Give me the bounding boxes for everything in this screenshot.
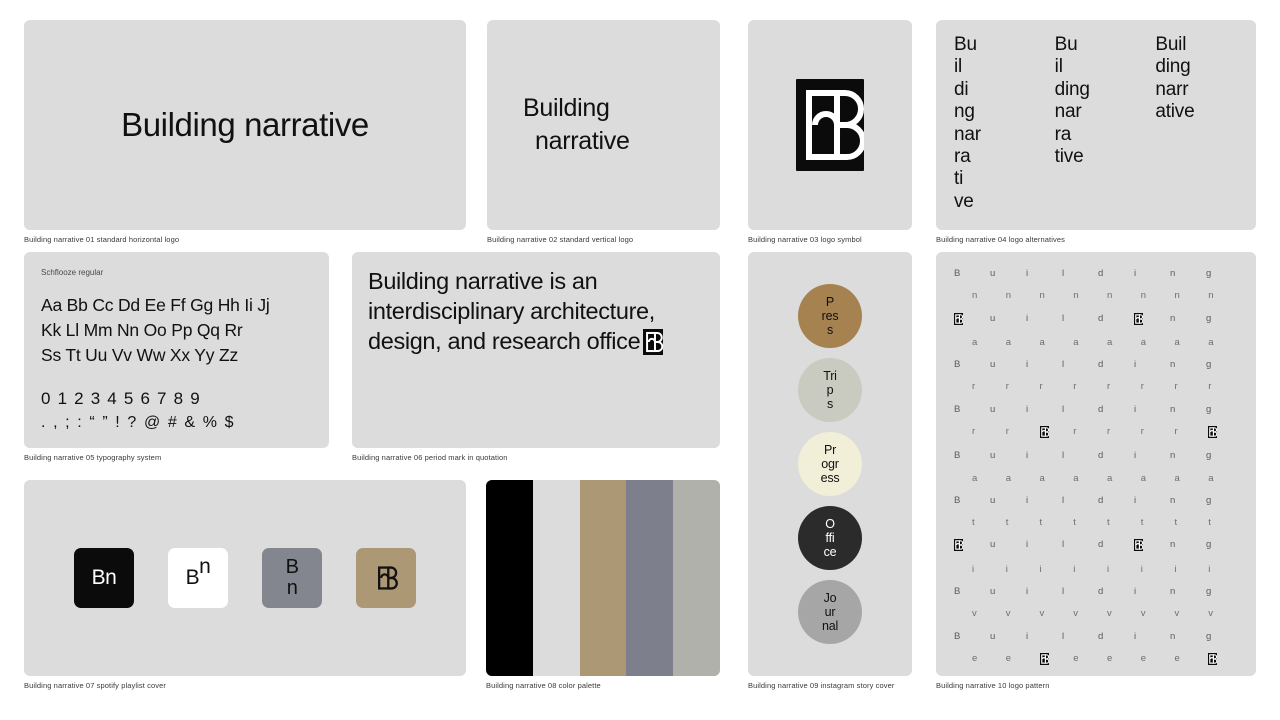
story-label: Journal xyxy=(822,591,838,633)
pattern-letter: a xyxy=(1208,337,1242,348)
card-standard-horizontal-logo: Building narrative Building narrative 01… xyxy=(24,20,466,244)
pattern-letter: d xyxy=(1098,586,1134,597)
pattern-letter: v xyxy=(1175,608,1209,619)
pattern-letter: d xyxy=(1098,539,1134,552)
story-line: p xyxy=(827,383,834,397)
pattern-letter: e xyxy=(1141,653,1175,666)
card-panel xyxy=(486,480,720,676)
pattern-letter: i xyxy=(1208,564,1242,575)
pattern-letter: i xyxy=(1026,313,1062,326)
pattern-monogram-icon xyxy=(1040,653,1074,666)
story-line: Tri xyxy=(823,369,837,383)
pattern-letter: t xyxy=(1073,517,1107,528)
story-line: P xyxy=(826,295,834,309)
pattern-letter: i xyxy=(1026,404,1062,415)
pattern-letter: a xyxy=(1175,337,1209,348)
card-color-palette: Building narrative 08 color palette xyxy=(486,480,720,690)
pattern-monogram-icon xyxy=(1040,426,1074,439)
pattern-letter: v xyxy=(1006,608,1040,619)
pattern-letter: t xyxy=(1141,517,1175,528)
card-panel: BnBnBn xyxy=(24,480,466,676)
bn-monogram-icon xyxy=(1134,539,1143,551)
cover-label: Bn xyxy=(92,566,117,590)
pattern-row: eeeeee xyxy=(954,653,1242,666)
pattern-letter: a xyxy=(1107,337,1141,348)
pattern-monogram-icon xyxy=(1134,313,1170,326)
pattern-letter: g xyxy=(1206,495,1242,506)
card-caption: Building narrative 03 logo symbol xyxy=(748,235,912,244)
bn-monogram-icon xyxy=(374,563,398,593)
pattern-letter: g xyxy=(1206,586,1242,597)
card-panel: PressTripsProgressOfficeJournal xyxy=(748,252,912,676)
story-line: s xyxy=(827,397,833,411)
pattern-letter: l xyxy=(1062,313,1098,326)
pattern-letter: r xyxy=(972,381,1006,392)
pattern-letter: d xyxy=(1098,450,1134,461)
pattern-letter: n xyxy=(1170,404,1206,415)
pattern-letter: r xyxy=(972,426,1006,439)
pattern-letter: g xyxy=(1206,268,1242,279)
pattern-row: Building xyxy=(954,404,1242,415)
story-line: O xyxy=(825,517,835,531)
pattern-row: rrrrrrrr xyxy=(954,381,1242,392)
pattern-letter: t xyxy=(1175,517,1209,528)
card-panel xyxy=(748,20,912,230)
logo-pattern-grid: BuildingnnnnnnnnuildngaaaaaaaaBuildingrr… xyxy=(936,252,1256,676)
pattern-letter: e xyxy=(1107,653,1141,666)
pattern-letter: B xyxy=(954,404,990,415)
pattern-letter: d xyxy=(1098,495,1134,506)
pattern-letter: i xyxy=(1134,268,1170,279)
logo-alternative-line: il xyxy=(954,56,1055,78)
pattern-letter: i xyxy=(1141,564,1175,575)
pattern-letter: r xyxy=(1175,426,1209,439)
pattern-letter: i xyxy=(1026,450,1062,461)
pattern-letter: r xyxy=(1107,426,1141,439)
pattern-letter: l xyxy=(1062,495,1098,506)
card-logo-symbol: Building narrative 03 logo symbol xyxy=(748,20,912,244)
pattern-monogram-icon xyxy=(954,313,990,326)
logo-alternative-line: ra xyxy=(954,146,1055,168)
pattern-letter: i xyxy=(1026,631,1062,642)
quotation-block: Building narrative is an interdisciplina… xyxy=(352,252,720,448)
pattern-letter: d xyxy=(1098,313,1134,326)
pattern-letter: a xyxy=(1040,337,1074,348)
pattern-letter: n xyxy=(1175,290,1209,301)
pattern-letter: a xyxy=(1006,337,1040,348)
pattern-row: tttttttt xyxy=(954,517,1242,528)
font-name: Schflooze regular xyxy=(41,268,313,277)
pattern-letter: u xyxy=(990,539,1026,552)
story-label: Press xyxy=(822,295,839,337)
pattern-letter: a xyxy=(1208,473,1242,484)
story-line: Jo xyxy=(824,591,837,605)
cover-superscript: n xyxy=(199,555,210,578)
story-line: ffi xyxy=(826,531,835,545)
logo-alternative-line: ding xyxy=(1155,56,1256,78)
pattern-letter: a xyxy=(1107,473,1141,484)
pattern-letter: r xyxy=(1073,381,1107,392)
pattern-letter: e xyxy=(972,653,1006,666)
card-panel: Building narrative is an interdisciplina… xyxy=(352,252,720,448)
logo-vertical: Building narrative xyxy=(487,20,720,230)
logo-alternative-line: ve xyxy=(954,191,1055,213)
pattern-letter: i xyxy=(972,564,1006,575)
pattern-letter: g xyxy=(1206,450,1242,461)
card-logo-pattern: BuildingnnnnnnnnuildngaaaaaaaaBuildingrr… xyxy=(936,252,1256,690)
card-caption: Building narrative 10 logo pattern xyxy=(936,681,1256,690)
pattern-letter: v xyxy=(1208,608,1242,619)
pattern-letter: i xyxy=(1026,268,1062,279)
pattern-letter: i xyxy=(1073,564,1107,575)
story-label: Trips xyxy=(823,369,837,411)
story-line: ogr xyxy=(821,457,838,471)
logo-alternative-line: ti xyxy=(954,168,1055,190)
color-swatch xyxy=(626,480,673,676)
pattern-letter: d xyxy=(1098,631,1134,642)
pattern-letter: e xyxy=(1006,653,1040,666)
card-caption: Building narrative 09 instagram story co… xyxy=(748,681,912,690)
card-panel: BuildingnnnnnnnnuildngaaaaaaaaBuildingrr… xyxy=(936,252,1256,676)
playlist-cover-superscript[interactable]: Bn xyxy=(168,548,228,608)
pattern-letter: t xyxy=(1006,517,1040,528)
numerals-line: 0 1 2 3 4 5 6 7 8 9 xyxy=(41,386,313,412)
pattern-letter: r xyxy=(1006,381,1040,392)
logo-alternative-line: ng xyxy=(954,101,1055,123)
pattern-monogram-icon xyxy=(954,539,990,552)
story-highlight-progress[interactable]: Progress xyxy=(798,432,862,496)
pattern-letter: i xyxy=(1134,586,1170,597)
pattern-letter: n xyxy=(1170,268,1206,279)
story-highlight-list: PressTripsProgressOfficeJournal xyxy=(748,252,912,676)
pattern-letter: i xyxy=(1134,404,1170,415)
pattern-letter: i xyxy=(1040,564,1074,575)
pattern-row: Building xyxy=(954,359,1242,370)
pattern-letter: u xyxy=(990,359,1026,370)
playlist-cover-list: BnBnBn xyxy=(24,480,466,676)
pattern-letter: n xyxy=(1170,495,1206,506)
pattern-letter: i xyxy=(1134,495,1170,506)
pattern-letter: l xyxy=(1062,631,1098,642)
pattern-letter: u xyxy=(990,586,1026,597)
pattern-row: aaaaaaaa xyxy=(954,337,1242,348)
card-caption: Building narrative 05 typography system xyxy=(24,453,329,462)
cover-label-bottom: n xyxy=(287,578,298,599)
story-label: Office xyxy=(824,517,837,559)
pattern-row: iiiiiiii xyxy=(954,564,1242,575)
pattern-letter: n xyxy=(1170,539,1206,552)
pattern-letter: a xyxy=(1073,473,1107,484)
pattern-letter: a xyxy=(1040,473,1074,484)
pattern-letter: r xyxy=(1175,381,1209,392)
pattern-letter: g xyxy=(1206,631,1242,642)
card-caption: Building narrative 02 standard vertical … xyxy=(487,235,720,244)
pattern-letter: a xyxy=(1141,473,1175,484)
pattern-letter: i xyxy=(1134,359,1170,370)
pattern-letter: n xyxy=(1107,290,1141,301)
card-caption: Building narrative 06 period mark in quo… xyxy=(352,453,720,462)
pattern-letter: i xyxy=(1026,495,1062,506)
alphabet-line-1: Aa Bb Cc Dd Ee Ff Gg Hh Ii Jj xyxy=(41,293,313,318)
logo-alternative-line: nar xyxy=(954,124,1055,146)
logo-alternative-line: Bu xyxy=(954,34,1055,56)
pattern-letter: u xyxy=(990,631,1026,642)
color-swatch xyxy=(673,480,720,676)
pattern-letter: B xyxy=(954,495,990,506)
pattern-letter: d xyxy=(1098,359,1134,370)
pattern-row: Building xyxy=(954,268,1242,279)
logo-horizontal: Building narrative xyxy=(24,20,466,230)
pattern-letter: n xyxy=(1073,290,1107,301)
pattern-letter: v xyxy=(1107,608,1141,619)
logo-alternative-line: di xyxy=(954,79,1055,101)
pattern-letter: t xyxy=(1040,517,1074,528)
pattern-letter: g xyxy=(1206,359,1242,370)
pattern-row: nnnnnnnn xyxy=(954,290,1242,301)
pattern-letter: r xyxy=(1073,426,1107,439)
story-line: ur xyxy=(825,605,836,619)
pattern-letter: r xyxy=(1208,381,1242,392)
bn-monogram-icon xyxy=(1208,426,1217,438)
spacer xyxy=(41,368,313,386)
pattern-letter: a xyxy=(1006,473,1040,484)
story-highlight-press[interactable]: Press xyxy=(798,284,862,348)
logo-alternative-line: Buil xyxy=(1155,34,1256,56)
pattern-letter: l xyxy=(1062,268,1098,279)
alphabet-line-3: Ss Tt Uu Vv Ww Xx Yy Zz xyxy=(41,343,313,368)
pattern-letter: B xyxy=(954,631,990,642)
playlist-cover-stacked[interactable]: Bn xyxy=(262,548,322,608)
pattern-letter: n xyxy=(1006,290,1040,301)
card-caption: Building narrative 07 spotify playlist c… xyxy=(24,681,466,690)
pattern-letter: e xyxy=(1073,653,1107,666)
bn-monogram-icon xyxy=(796,79,864,171)
pattern-letter: r xyxy=(1141,426,1175,439)
pattern-letter: i xyxy=(1134,450,1170,461)
pattern-letter: g xyxy=(1206,404,1242,415)
bn-period-mark-icon xyxy=(643,329,663,355)
pattern-letter: v xyxy=(1073,608,1107,619)
playlist-cover-mark[interactable] xyxy=(356,548,416,608)
punctuation-line: . , ; : “ ” ! ? @ # & % $ xyxy=(41,411,313,435)
pattern-letter: n xyxy=(1170,359,1206,370)
logo-alternative-line: narr xyxy=(1155,79,1256,101)
pattern-letter: B xyxy=(954,359,990,370)
story-line: s xyxy=(827,323,833,337)
card-standard-vertical-logo: Building narrative Building narrative 02… xyxy=(487,20,720,244)
pattern-letter: u xyxy=(990,268,1026,279)
pattern-letter: g xyxy=(1206,539,1242,552)
card-spotify-playlist-cover: BnBnBn Building narrative 07 spotify pla… xyxy=(24,480,466,690)
logo-alternative-line: tive xyxy=(1055,146,1156,168)
pattern-letter: l xyxy=(1062,404,1098,415)
pattern-letter: B xyxy=(954,586,990,597)
pattern-monogram-icon xyxy=(1208,653,1242,666)
pattern-letter: u xyxy=(990,495,1026,506)
pattern-letter: i xyxy=(1026,539,1062,552)
story-line: ce xyxy=(824,545,837,559)
logo-alternative-line: ra xyxy=(1055,124,1156,146)
cover-label-top: B xyxy=(286,557,299,578)
card-panel: Buildingnarrative Buildingnarrative Buil… xyxy=(936,20,1256,230)
color-swatch xyxy=(580,480,627,676)
pattern-letter: a xyxy=(972,473,1006,484)
pattern-letter: g xyxy=(1206,313,1242,326)
pattern-row: Building xyxy=(954,586,1242,597)
pattern-monogram-icon xyxy=(1134,539,1170,552)
pattern-letter: l xyxy=(1062,586,1098,597)
pattern-letter: n xyxy=(1141,290,1175,301)
pattern-letter: a xyxy=(1175,473,1209,484)
pattern-letter: n xyxy=(1040,290,1074,301)
card-panel: Building narrative xyxy=(24,20,466,230)
logo-alternative-line: ative xyxy=(1155,101,1256,123)
pattern-letter: n xyxy=(1170,313,1206,326)
pattern-letter: i xyxy=(1134,631,1170,642)
color-swatch xyxy=(533,480,580,676)
pattern-row: uildng xyxy=(954,313,1242,326)
bn-monogram-icon xyxy=(1040,426,1049,438)
pattern-letter: u xyxy=(990,450,1026,461)
logo-line-2: narrative xyxy=(523,125,630,158)
pattern-letter: l xyxy=(1062,450,1098,461)
card-logo-alternatives: Buildingnarrative Buildingnarrative Buil… xyxy=(936,20,1256,244)
pattern-letter: n xyxy=(1170,631,1206,642)
pattern-letter: i xyxy=(1026,359,1062,370)
bn-monogram-icon xyxy=(954,539,963,551)
alphabet-line-2: Kk Ll Mm Nn Oo Pp Qq Rr xyxy=(41,318,313,343)
card-caption: Building narrative 04 logo alternatives xyxy=(936,235,1256,244)
pattern-letter: i xyxy=(1175,564,1209,575)
card-panel: Schflooze regular Aa Bb Cc Dd Ee Ff Gg H… xyxy=(24,252,329,448)
story-label: Progress xyxy=(821,443,840,485)
pattern-letter: t xyxy=(972,517,1006,528)
card-caption: Building narrative 01 standard horizonta… xyxy=(24,235,466,244)
bn-monogram-icon xyxy=(1134,313,1143,325)
card-instagram-story-cover: PressTripsProgressOfficeJournal Building… xyxy=(748,252,912,690)
bn-monogram-icon xyxy=(1208,653,1217,665)
pattern-letter: l xyxy=(1062,539,1098,552)
pattern-row: uildng xyxy=(954,539,1242,552)
pattern-letter: n xyxy=(1170,450,1206,461)
pattern-letter: a xyxy=(972,337,1006,348)
playlist-cover-inline[interactable]: Bn xyxy=(74,548,134,608)
color-swatch xyxy=(486,480,533,676)
pattern-letter: u xyxy=(990,313,1026,326)
logo-alternative-line: il xyxy=(1055,56,1156,78)
pattern-letter: B xyxy=(954,268,990,279)
pattern-letter: t xyxy=(1208,517,1242,528)
card-panel: Building narrative xyxy=(487,20,720,230)
pattern-letter: t xyxy=(1107,517,1141,528)
pattern-letter: d xyxy=(1098,268,1134,279)
pattern-letter: v xyxy=(1141,608,1175,619)
pattern-letter: d xyxy=(1098,404,1134,415)
logo-alternative-line: ding xyxy=(1055,79,1156,101)
pattern-letter: n xyxy=(1170,586,1206,597)
bn-monogram-icon xyxy=(954,313,963,325)
pattern-letter: i xyxy=(1107,564,1141,575)
monogram-wrap xyxy=(748,20,912,230)
pattern-letter: B xyxy=(954,450,990,461)
logo-alternative-1: Buildingnarrative xyxy=(954,34,1055,230)
pattern-letter: r xyxy=(1107,381,1141,392)
logo-alternative-line: Bu xyxy=(1055,34,1156,56)
pattern-row: vvvvvvvv xyxy=(954,608,1242,619)
bn-monogram-icon xyxy=(1040,653,1049,665)
pattern-letter: u xyxy=(990,404,1026,415)
story-line: ess xyxy=(821,471,840,485)
story-line: nal xyxy=(822,619,838,633)
cover-label: Bn xyxy=(186,566,211,590)
pattern-letter: a xyxy=(1073,337,1107,348)
pattern-letter: n xyxy=(972,290,1006,301)
pattern-letter: r xyxy=(1141,381,1175,392)
story-line: Pr xyxy=(824,443,836,457)
logo-line-1: Building xyxy=(523,92,610,125)
logo-alternatives: Buildingnarrative Buildingnarrative Buil… xyxy=(936,20,1256,230)
story-highlight-trips[interactable]: Trips xyxy=(798,358,862,422)
story-line: res xyxy=(822,309,839,323)
card-typography-system: Schflooze regular Aa Bb Cc Dd Ee Ff Gg H… xyxy=(24,252,329,462)
pattern-row: Building xyxy=(954,631,1242,642)
pattern-row: Building xyxy=(954,450,1242,461)
pattern-letter: r xyxy=(1006,426,1040,439)
brand-identity-board: Building narrative Building narrative 01… xyxy=(0,0,1280,720)
pattern-letter: v xyxy=(1040,608,1074,619)
pattern-letter: a xyxy=(1141,337,1175,348)
pattern-letter: l xyxy=(1062,359,1098,370)
pattern-row: aaaaaaaa xyxy=(954,473,1242,484)
pattern-letter: i xyxy=(1006,564,1040,575)
pattern-row: Building xyxy=(954,495,1242,506)
pattern-letter: r xyxy=(1040,381,1074,392)
story-highlight-office[interactable]: Office xyxy=(798,506,862,570)
pattern-monogram-icon xyxy=(1208,426,1242,439)
logo-alternative-line: nar xyxy=(1055,101,1156,123)
pattern-letter: i xyxy=(1026,586,1062,597)
pattern-letter: e xyxy=(1175,653,1209,666)
typography-specimen: Schflooze regular Aa Bb Cc Dd Ee Ff Gg H… xyxy=(24,252,329,448)
logo-alternative-3: Buildingnarrative xyxy=(1155,34,1256,230)
card-caption: Building narrative 08 color palette xyxy=(486,681,720,690)
card-period-mark-quotation: Building narrative is an interdisciplina… xyxy=(352,252,720,462)
quotation-text: Building narrative is an interdisciplina… xyxy=(368,268,655,354)
logo-alternative-2: Buildingnarrative xyxy=(1055,34,1156,230)
pattern-letter: v xyxy=(972,608,1006,619)
story-highlight-journal[interactable]: Journal xyxy=(798,580,862,644)
color-palette-strip xyxy=(486,480,720,676)
pattern-row: rrrrrr xyxy=(954,426,1242,439)
pattern-letter: n xyxy=(1208,290,1242,301)
